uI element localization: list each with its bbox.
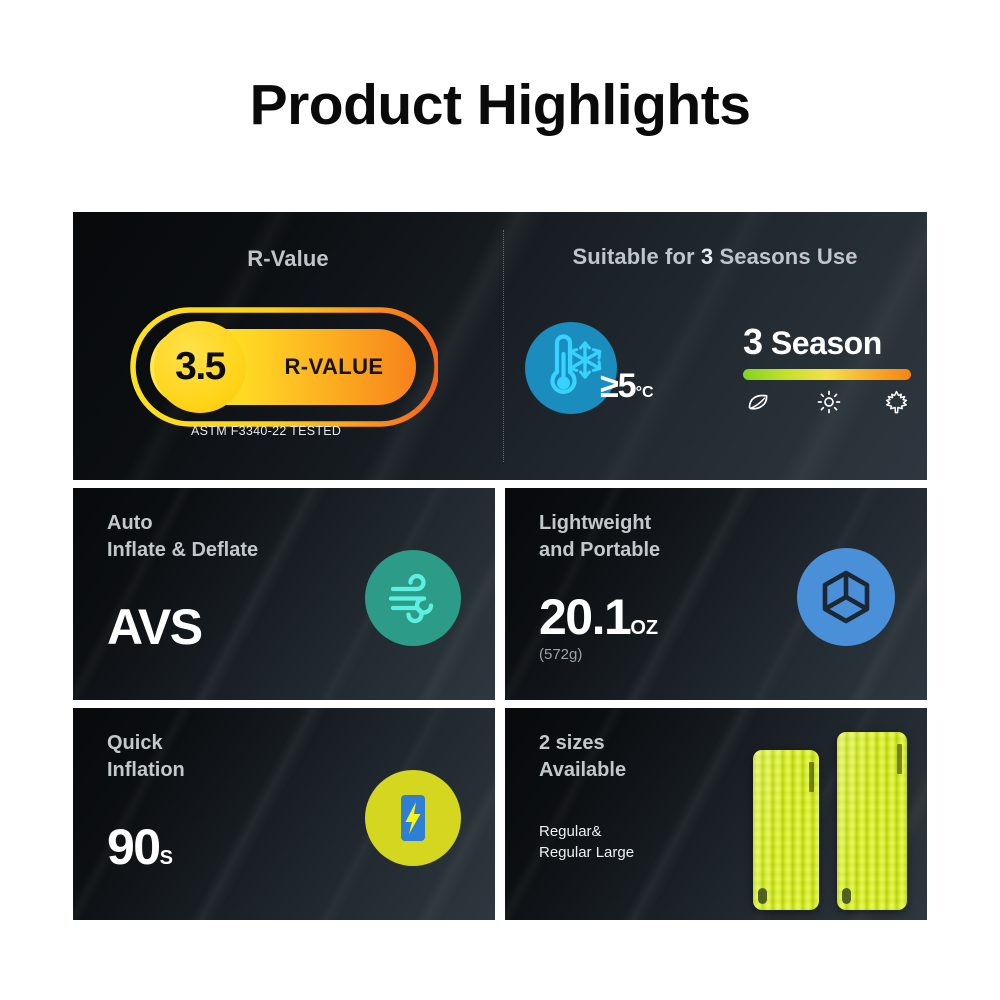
- quick-unit: S: [160, 847, 173, 869]
- quick-heading: Quick Inflation: [107, 730, 185, 784]
- panel-divider: [503, 230, 504, 462]
- pad-logo: [809, 762, 814, 792]
- cube-icon: [817, 568, 875, 626]
- r-value-heading: R-Value: [73, 246, 503, 272]
- r-value-label: R-VALUE: [246, 321, 422, 413]
- r-value-number: 3.5: [154, 321, 246, 413]
- weight-unit: OZ: [630, 617, 658, 639]
- quick-value: 90S: [107, 818, 173, 876]
- season-icons-row: [743, 390, 911, 414]
- panel-auto-inflate-deflate: Auto Inflate & Deflate AVS: [73, 488, 495, 700]
- panel-2-sizes-available: 2 sizes Available Regular& Regular Large: [505, 708, 927, 920]
- cube-icon-circle: [797, 548, 895, 646]
- season-title: 3 Season: [743, 324, 911, 360]
- battery-bolt-icon-circle: [365, 770, 461, 866]
- panel-lightweight-portable: Lightweight and Portable 20.1OZ (572g): [505, 488, 927, 700]
- weight-value: 20.1OZ: [539, 588, 658, 646]
- quick-number: 90: [107, 819, 160, 875]
- sizes-heading: 2 sizes Available: [539, 730, 626, 784]
- r-value-certification: ASTM F3340-22 TESTED: [191, 424, 451, 438]
- pad-regular-large: [837, 732, 907, 910]
- panel-r-value-seasons: R-Value 3.5: [73, 212, 927, 480]
- temperature-number: ≥5: [600, 367, 636, 405]
- seasons-heading-suffix: Seasons Use: [713, 244, 857, 269]
- battery-bolt-icon: [383, 788, 443, 848]
- pad-logo: [897, 744, 902, 774]
- season-count: 3: [743, 321, 763, 362]
- sleeping-pads-image: [745, 716, 925, 916]
- seasons-heading-count: 3: [701, 244, 713, 269]
- season-block: 3 Season: [743, 324, 911, 414]
- temperature-unit: °C: [636, 384, 654, 401]
- avs-value: AVS: [107, 598, 202, 656]
- pad-valve-icon: [842, 888, 851, 904]
- r-value-badge: 3.5 R-VALUE: [128, 307, 438, 427]
- pad-regular: [753, 750, 819, 910]
- sun-icon: [817, 390, 841, 414]
- wind-icon: [384, 569, 442, 627]
- sprout-icon: [746, 392, 772, 412]
- panel-quick-inflation: Quick Inflation 90S: [73, 708, 495, 920]
- avs-heading: Auto Inflate & Deflate: [107, 510, 258, 564]
- season-gradient-bar: [743, 369, 911, 380]
- weight-heading: Lightweight and Portable: [539, 510, 660, 564]
- weight-number: 20.1: [539, 589, 630, 645]
- wind-icon-circle: [365, 550, 461, 646]
- pad-valve-icon: [758, 888, 767, 904]
- thermometer-snowflake-icon: [535, 330, 609, 404]
- sizes-subtext: Regular& Regular Large: [539, 821, 634, 864]
- seasons-heading-prefix: Suitable for: [572, 244, 700, 269]
- seasons-heading: Suitable for 3 Seasons Use: [503, 244, 927, 270]
- weight-note: (572g): [539, 646, 582, 663]
- maple-leaf-icon: [885, 390, 908, 414]
- season-word: Season: [763, 325, 882, 361]
- temperature-value: ≥5°C: [600, 367, 654, 406]
- page-title: Product Highlights: [0, 72, 1000, 138]
